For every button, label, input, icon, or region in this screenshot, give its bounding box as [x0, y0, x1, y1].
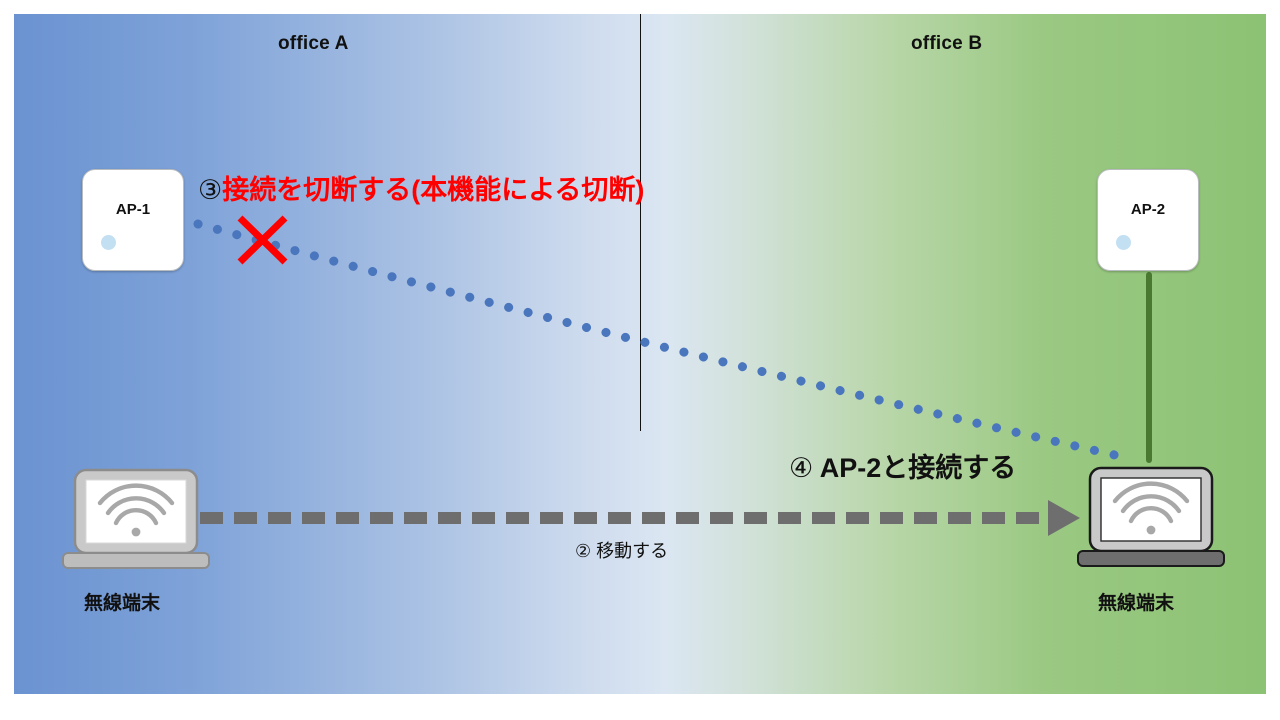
- annotation-step-4-number: ④: [789, 453, 813, 483]
- ap-2-led-icon: [1116, 235, 1131, 250]
- connection-lines-layer: [0, 0, 1280, 720]
- wireless-client-left[interactable]: [60, 468, 212, 572]
- annotation-step-2-number: ②: [575, 541, 591, 561]
- annotation-step-4: ④ AP-2と接続する: [789, 446, 1016, 485]
- annotation-step-3-text: 接続を切断する(本機能による切断): [222, 175, 644, 205]
- annotation-step-2: ② 移動する: [575, 537, 668, 563]
- diagram-canvas: office A office B AP-1 AP-2: [0, 0, 1280, 720]
- access-point-ap-1[interactable]: AP-1: [82, 169, 184, 271]
- ap-1-label: AP-1: [83, 201, 183, 218]
- ap-2-label: AP-2: [1098, 201, 1198, 218]
- annotation-step-3: ③接続を切断する(本機能による切断): [198, 168, 644, 207]
- wireless-client-right[interactable]: [1075, 466, 1227, 570]
- ap-1-led-icon: [101, 235, 116, 250]
- client-right-caption: 無線端末: [1098, 588, 1174, 615]
- severed-x-icon: [240, 218, 285, 262]
- client-left-caption: 無線端末: [84, 588, 160, 615]
- dotted-link-ap1-to-client: [198, 224, 1128, 458]
- access-point-ap-2[interactable]: AP-2: [1097, 169, 1199, 271]
- annotation-step-2-text: 移動する: [596, 541, 668, 561]
- annotation-step-4-text: AP-2と接続する: [820, 453, 1017, 483]
- annotation-step-3-number: ③: [198, 175, 222, 205]
